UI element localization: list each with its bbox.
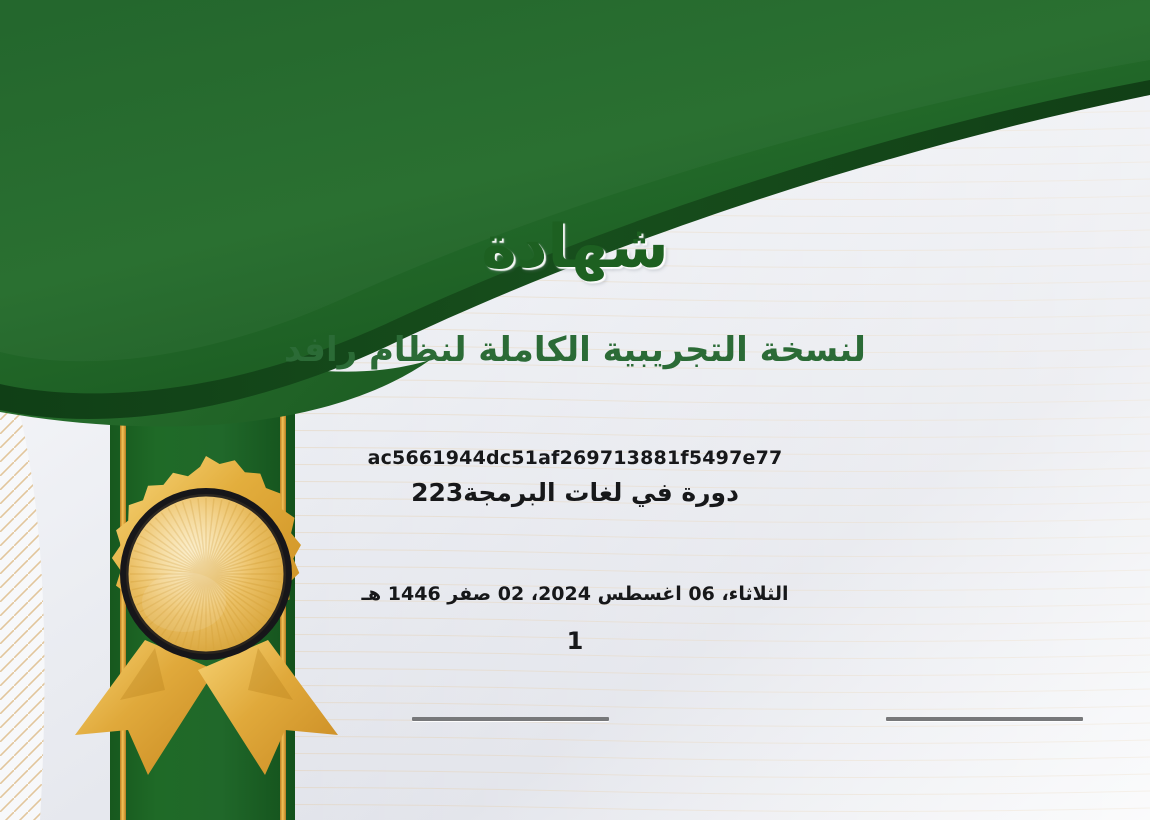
certificate-hash-code: ac5661944dc51af269713881f5497e77 (0, 447, 1150, 469)
signature-line-left (412, 717, 609, 721)
certificate-subtitle: لنسخة التجريبية الكاملة لنظام رافد (0, 330, 1150, 370)
certificate-page: شهادة لنسخة التجريبية الكاملة لنظام رافد… (0, 0, 1150, 820)
award-medal (0, 0, 1150, 820)
signature-line-right (886, 717, 1083, 721)
issue-date: الثلاثاء، 06 اغسطس 2024، 02 صفر 1446 هـ (0, 583, 1150, 605)
course-name: دورة في لغات البرمجة223 (0, 478, 1150, 507)
certificate-title: شهادة (0, 212, 1150, 282)
medal-ribbon-tails (75, 640, 338, 775)
sequence-number: 1 (0, 627, 1150, 655)
